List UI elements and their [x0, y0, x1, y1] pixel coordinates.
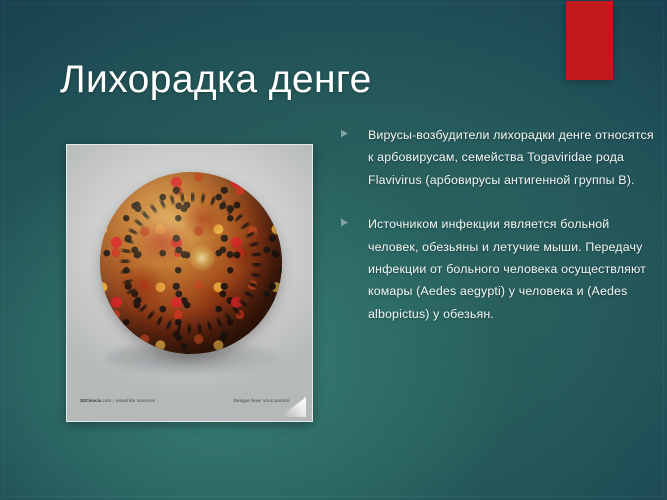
virus-sphere	[100, 172, 282, 354]
image-canvas: 3DCiencia.com|visual life sciences Dengu…	[67, 145, 312, 421]
list-item-text: Вирусы-возбудители лихорадки денге относ…	[368, 124, 660, 191]
bullet-list: Вирусы-возбудители лихорадки денге относ…	[340, 124, 660, 325]
caption-separator: |	[113, 398, 114, 403]
list-item: Вирусы-возбудители лихорадки денге относ…	[340, 124, 660, 191]
presentation-slide: Лихорадка денге 3DCiencia.com|visual lif…	[0, 0, 667, 500]
red-accent-block	[566, 1, 613, 80]
list-item-text: Источником инфекции является больной чел…	[368, 213, 660, 325]
image-credit-brand: 3DCiencia	[80, 398, 101, 403]
triangle-right-icon	[340, 218, 349, 227]
triangle-right-icon	[340, 129, 349, 138]
image-subject-caption: Dengue fever virus particle	[234, 398, 290, 404]
image-credit-domain: .com	[101, 398, 111, 403]
page-title: Лихорадка денге	[60, 57, 530, 103]
five-fold-vertex-highlight	[189, 245, 215, 271]
virus-particle-image: 3DCiencia.com|visual life sciences Dengu…	[66, 144, 313, 422]
list-item: Источником инфекции является больной чел…	[340, 213, 660, 325]
image-credit-tagline: visual life sciences	[116, 398, 155, 403]
image-credit-caption: 3DCiencia.com|visual life sciences	[80, 398, 155, 404]
